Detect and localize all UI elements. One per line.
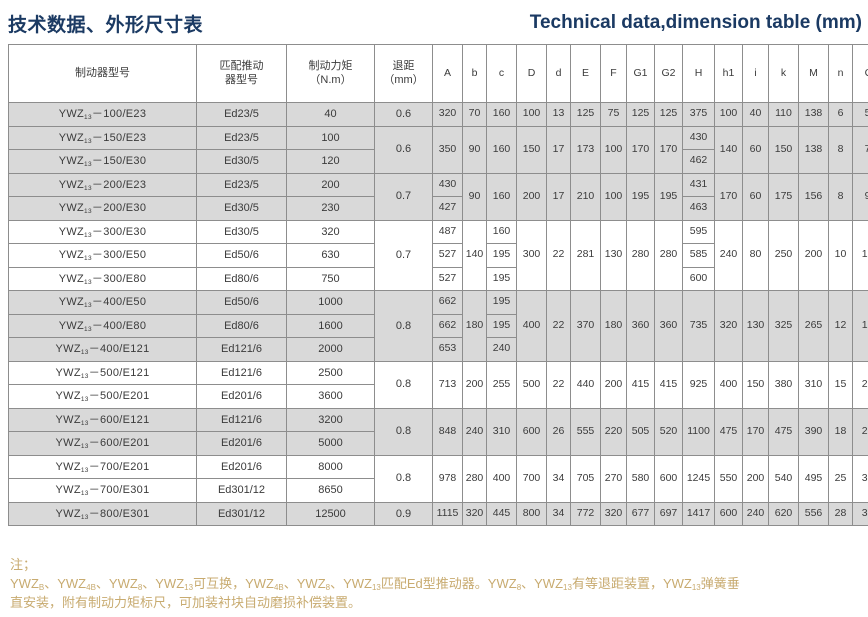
model-suffix: －200/E30 [92, 202, 146, 214]
cell-dim-k: 620 [769, 502, 799, 526]
cell-dim-k: 175 [769, 173, 799, 220]
cell-pusher-model: Ed301/12 [197, 479, 287, 503]
cell-dim-b: 240 [463, 408, 487, 455]
model-suffix: －300/E80 [92, 273, 146, 285]
model-prefix: YWZ [56, 343, 81, 355]
table-row: YWZ13－150/E23Ed23/51000.6350901601501717… [9, 126, 868, 150]
cell-dim-b: 280 [463, 455, 487, 502]
cell-dim-D: 100 [517, 103, 547, 127]
cell-dim-A: 653 [433, 338, 463, 362]
table-header: 制动器型号 匹配推动 器型号 制动力矩 （N.m） 退距 （mm） A b [9, 45, 868, 103]
cell-dim-G1: 195 [627, 173, 655, 220]
cell-retract-gap: 0.8 [375, 408, 433, 455]
cell-dim-G1: 360 [627, 291, 655, 362]
cell-dim-A: 662 [433, 314, 463, 338]
cell-braking-torque: 750 [287, 267, 375, 291]
page-root: 技术数据、外形尺寸表 Technical data,dimension tabl… [0, 0, 868, 617]
cell-retract-gap: 0.9 [375, 502, 433, 526]
cell-dim-n: 25 [829, 455, 853, 502]
cell-dim-i: 150 [743, 361, 769, 408]
note-subscript: 13 [563, 583, 572, 592]
table-row: YWZ13－700/E201Ed201/680000.8978280400700… [9, 455, 868, 479]
cell-dim-M: 265 [799, 291, 829, 362]
table-row: YWZ13－500/E121Ed121/625000.8713200255500… [9, 361, 868, 385]
model-prefix: YWZ [59, 202, 84, 214]
col-header-torque-line2: （N.m） [288, 74, 373, 88]
cell-dim-G3: 315 [853, 455, 868, 502]
cell-dim-G3: 95 [853, 173, 868, 220]
cell-pusher-model: Ed201/6 [197, 455, 287, 479]
cell-retract-gap: 0.8 [375, 455, 433, 502]
note-text: 、YWZ [330, 576, 372, 591]
cell-dim-H: 595 [683, 220, 715, 244]
cell-dim-c: 445 [487, 502, 517, 526]
cell-dim-b: 90 [463, 173, 487, 220]
cell-dim-G1: 415 [627, 361, 655, 408]
cell-dim-h1: 550 [715, 455, 743, 502]
model-suffix: －800/E301 [89, 508, 150, 520]
note-subscript: B [39, 583, 44, 592]
cell-dim-A: 350 [433, 126, 463, 173]
cell-dim-d: 34 [547, 502, 571, 526]
col-header-F: F [601, 45, 627, 103]
note-subscript: 8 [517, 583, 521, 592]
note-subscript: 4B [86, 583, 96, 592]
cell-dim-c: 240 [487, 338, 517, 362]
cell-dim-E: 173 [571, 126, 601, 173]
cell-dim-k: 540 [769, 455, 799, 502]
cell-pusher-model: Ed30/5 [197, 197, 287, 221]
cell-dim-E: 555 [571, 408, 601, 455]
cell-dim-k: 110 [769, 103, 799, 127]
model-prefix: YWZ [59, 296, 84, 308]
cell-model: YWZ13－300/E50 [9, 244, 197, 268]
model-suffix: －400/E121 [89, 343, 150, 355]
model-subscript: 13 [81, 420, 89, 427]
cell-dim-c: 310 [487, 408, 517, 455]
cell-dim-G3: 190 [853, 291, 868, 362]
cell-braking-torque: 120 [287, 150, 375, 174]
note-subscript: 13 [184, 583, 193, 592]
cell-dim-F: 220 [601, 408, 627, 455]
model-prefix: YWZ [59, 108, 84, 120]
cell-model: YWZ13－600/E121 [9, 408, 197, 432]
cell-dim-b: 90 [463, 126, 487, 173]
col-header-c: c [487, 45, 517, 103]
cell-dim-E: 210 [571, 173, 601, 220]
title-row: 技术数据、外形尺寸表 Technical data,dimension tabl… [0, 4, 868, 42]
note-text: 、YWZ [96, 576, 138, 591]
cell-dim-G2: 125 [655, 103, 683, 127]
model-prefix: YWZ [59, 155, 84, 167]
cell-dim-i: 40 [743, 103, 769, 127]
model-prefix: YWZ [56, 461, 81, 473]
cell-dim-F: 320 [601, 502, 627, 526]
cell-dim-n: 6 [829, 103, 853, 127]
cell-retract-gap: 0.6 [375, 103, 433, 127]
cell-dim-i: 240 [743, 502, 769, 526]
cell-dim-k: 475 [769, 408, 799, 455]
cell-model: YWZ13－300/E80 [9, 267, 197, 291]
cell-braking-torque: 5000 [287, 432, 375, 456]
cell-dim-b: 70 [463, 103, 487, 127]
cell-dim-M: 138 [799, 103, 829, 127]
col-header-model: 制动器型号 [9, 45, 197, 103]
cell-model: YWZ13－400/E80 [9, 314, 197, 338]
col-header-n: n [829, 45, 853, 103]
cell-dim-D: 300 [517, 220, 547, 291]
cell-dim-h1: 140 [715, 126, 743, 173]
model-subscript: 13 [84, 279, 92, 286]
cell-pusher-model: Ed201/6 [197, 432, 287, 456]
cell-dim-n: 12 [829, 291, 853, 362]
model-prefix: YWZ [56, 508, 81, 520]
model-subscript: 13 [81, 373, 89, 380]
cell-dim-A: 427 [433, 197, 463, 221]
cell-dim-d: 17 [547, 126, 571, 173]
cell-dim-c: 255 [487, 361, 517, 408]
cell-model: YWZ13－500/E201 [9, 385, 197, 409]
cell-model: YWZ13－700/E301 [9, 479, 197, 503]
cell-dim-G2: 280 [655, 220, 683, 291]
cell-dim-F: 270 [601, 455, 627, 502]
cell-dim-k: 250 [769, 220, 799, 291]
cell-retract-gap: 0.7 [375, 220, 433, 291]
col-header-A: A [433, 45, 463, 103]
note-text: 弹簧垂 [701, 576, 740, 591]
cell-dim-A: 662 [433, 291, 463, 315]
cell-dim-i: 60 [743, 173, 769, 220]
cell-retract-gap: 0.8 [375, 291, 433, 362]
cell-dim-d: 34 [547, 455, 571, 502]
model-subscript: 13 [84, 138, 92, 145]
cell-dim-G1: 580 [627, 455, 655, 502]
col-header-gap-line2: （mm） [376, 74, 431, 88]
cell-dim-d: 13 [547, 103, 571, 127]
cell-dim-n: 8 [829, 126, 853, 173]
cell-dim-G3: 357 [853, 502, 868, 526]
table-row: YWZ13－800/E301Ed301/12125000.91115320445… [9, 502, 868, 526]
col-header-G3-base: G [865, 67, 868, 79]
cell-model: YWZ13－800/E301 [9, 502, 197, 526]
cell-dim-M: 495 [799, 455, 829, 502]
cell-dim-G1: 170 [627, 126, 655, 173]
model-subscript: 13 [84, 114, 92, 121]
cell-dim-d: 22 [547, 361, 571, 408]
col-header-D: D [517, 45, 547, 103]
cell-dim-D: 800 [517, 502, 547, 526]
note-label: 注； [10, 556, 860, 575]
table-row: YWZ13－300/E30Ed30/53200.7487140160300222… [9, 220, 868, 244]
cell-dim-A: 978 [433, 455, 463, 502]
cell-dim-b: 320 [463, 502, 487, 526]
note-text: 、YWZ [142, 576, 184, 591]
cell-dim-E: 281 [571, 220, 601, 291]
cell-dim-h1: 100 [715, 103, 743, 127]
cell-pusher-model: Ed50/6 [197, 291, 287, 315]
cell-braking-torque: 40 [287, 103, 375, 127]
cell-dim-d: 22 [547, 291, 571, 362]
cell-dim-G2: 697 [655, 502, 683, 526]
cell-model: YWZ13－700/E201 [9, 455, 197, 479]
cell-dim-G2: 195 [655, 173, 683, 220]
cell-braking-torque: 3200 [287, 408, 375, 432]
cell-braking-torque: 1600 [287, 314, 375, 338]
cell-dim-G3: 70 [853, 126, 868, 173]
cell-braking-torque: 230 [287, 197, 375, 221]
cell-dim-A: 527 [433, 267, 463, 291]
cell-dim-E: 772 [571, 502, 601, 526]
col-header-pusher: 匹配推动 器型号 [197, 45, 287, 103]
cell-dim-E: 370 [571, 291, 601, 362]
cell-dim-D: 400 [517, 291, 547, 362]
cell-dim-n: 28 [829, 502, 853, 526]
col-header-gap: 退距 （mm） [375, 45, 433, 103]
cell-dim-A: 713 [433, 361, 463, 408]
cell-dim-F: 130 [601, 220, 627, 291]
model-suffix: －500/E201 [89, 390, 150, 402]
model-subscript: 13 [81, 396, 89, 403]
cell-dim-D: 150 [517, 126, 547, 173]
model-subscript: 13 [84, 232, 92, 239]
model-prefix: YWZ [59, 179, 84, 191]
cell-braking-torque: 2500 [287, 361, 375, 385]
note-text: 有等退距装置，YWZ [572, 576, 692, 591]
cell-braking-torque: 1000 [287, 291, 375, 315]
cell-dim-h1: 240 [715, 220, 743, 291]
cell-braking-torque: 8650 [287, 479, 375, 503]
col-header-H: H [683, 45, 715, 103]
model-suffix: －150/E23 [92, 132, 146, 144]
cell-dim-H: 735 [683, 291, 715, 362]
cell-dim-D: 700 [517, 455, 547, 502]
cell-dim-G1: 280 [627, 220, 655, 291]
cell-dim-i: 60 [743, 126, 769, 173]
note-text: YWZ [10, 576, 39, 591]
cell-model: YWZ13－600/E201 [9, 432, 197, 456]
model-suffix: －400/E50 [92, 296, 146, 308]
cell-dim-h1: 170 [715, 173, 743, 220]
technical-data-table-wrapper: 制动器型号 匹配推动 器型号 制动力矩 （N.m） 退距 （mm） A b [8, 44, 860, 526]
note-text: 、YWZ [44, 576, 86, 591]
model-suffix: －100/E23 [92, 108, 146, 120]
cell-dim-i: 170 [743, 408, 769, 455]
cell-retract-gap: 0.8 [375, 361, 433, 408]
col-header-k: k [769, 45, 799, 103]
cell-dim-A: 430 [433, 173, 463, 197]
model-prefix: YWZ [59, 226, 84, 238]
note-subscript: 8 [138, 583, 142, 592]
note-subscript: 8 [326, 583, 330, 592]
model-subscript: 13 [84, 208, 92, 215]
cell-dim-h1: 475 [715, 408, 743, 455]
table-body: YWZ13－100/E23Ed23/5400.63207016010013125… [9, 103, 868, 526]
cell-braking-torque: 2000 [287, 338, 375, 362]
cell-dim-n: 8 [829, 173, 853, 220]
cell-dim-b: 140 [463, 220, 487, 291]
cell-dim-F: 75 [601, 103, 627, 127]
note-text: 、YWZ [521, 576, 563, 591]
cell-dim-G3: 50 [853, 103, 868, 127]
cell-model: YWZ13－400/E121 [9, 338, 197, 362]
cell-model: YWZ13－300/E30 [9, 220, 197, 244]
model-suffix: －600/E201 [89, 437, 150, 449]
col-header-gap-line1: 退距 [376, 60, 431, 74]
table-row: YWZ13－600/E121Ed121/632000.8848240310600… [9, 408, 868, 432]
col-header-torque: 制动力矩 （N.m） [287, 45, 375, 103]
col-header-G3: G3 [853, 45, 868, 103]
cell-dim-h1: 400 [715, 361, 743, 408]
cell-retract-gap: 0.6 [375, 126, 433, 173]
cell-dim-G2: 600 [655, 455, 683, 502]
cell-dim-c: 195 [487, 291, 517, 315]
cell-pusher-model: Ed80/6 [197, 267, 287, 291]
cell-pusher-model: Ed121/6 [197, 361, 287, 385]
cell-dim-M: 156 [799, 173, 829, 220]
header-row: 制动器型号 匹配推动 器型号 制动力矩 （N.m） 退距 （mm） A b [9, 45, 868, 103]
cell-dim-d: 26 [547, 408, 571, 455]
col-header-pusher-line2: 器型号 [198, 74, 285, 88]
cell-dim-k: 325 [769, 291, 799, 362]
model-prefix: YWZ [59, 132, 84, 144]
model-subscript: 13 [81, 443, 89, 450]
model-suffix: －150/E30 [92, 155, 146, 167]
cell-braking-torque: 320 [287, 220, 375, 244]
cell-pusher-model: Ed23/5 [197, 126, 287, 150]
cell-dim-d: 17 [547, 173, 571, 220]
note-text: 可互换，YWZ [193, 576, 274, 591]
cell-pusher-model: Ed30/5 [197, 220, 287, 244]
cell-dim-H: 375 [683, 103, 715, 127]
cell-model: YWZ13－200/E23 [9, 173, 197, 197]
cell-dim-E: 705 [571, 455, 601, 502]
cell-model: YWZ13－150/E23 [9, 126, 197, 150]
cell-dim-M: 310 [799, 361, 829, 408]
model-suffix: －700/E201 [89, 461, 150, 473]
model-subscript: 13 [84, 161, 92, 168]
cell-dim-D: 600 [517, 408, 547, 455]
cell-dim-G3: 225 [853, 361, 868, 408]
model-suffix: －200/E23 [92, 179, 146, 191]
cell-dim-G2: 520 [655, 408, 683, 455]
note-subscript: 13 [372, 583, 381, 592]
note-text: 匹配Ed型推动器。YWZ [381, 576, 517, 591]
model-prefix: YWZ [56, 484, 81, 496]
model-prefix: YWZ [59, 249, 84, 261]
page-title-en: Technical data,dimension table (mm) [530, 12, 862, 34]
model-prefix: YWZ [59, 273, 84, 285]
col-header-torque-line1: 制动力矩 [288, 60, 373, 74]
cell-dim-n: 10 [829, 220, 853, 291]
cell-model: YWZ13－100/E23 [9, 103, 197, 127]
cell-braking-torque: 12500 [287, 502, 375, 526]
model-subscript: 13 [81, 514, 89, 521]
cell-dim-G2: 415 [655, 361, 683, 408]
cell-dim-A: 320 [433, 103, 463, 127]
cell-dim-H: 925 [683, 361, 715, 408]
cell-pusher-model: Ed30/5 [197, 150, 287, 174]
cell-model: YWZ13－150/E30 [9, 150, 197, 174]
model-prefix: YWZ [59, 320, 84, 332]
cell-braking-torque: 200 [287, 173, 375, 197]
cell-dim-G3: 125 [853, 220, 868, 291]
cell-braking-torque: 3600 [287, 385, 375, 409]
col-header-G2: G2 [655, 45, 683, 103]
cell-dim-c: 160 [487, 126, 517, 173]
cell-dim-F: 180 [601, 291, 627, 362]
cell-dim-G2: 170 [655, 126, 683, 173]
cell-dim-k: 380 [769, 361, 799, 408]
model-subscript: 13 [84, 185, 92, 192]
model-suffix: －500/E121 [89, 367, 150, 379]
cell-dim-i: 80 [743, 220, 769, 291]
cell-dim-H: 430 [683, 126, 715, 150]
cell-dim-G2: 360 [655, 291, 683, 362]
cell-dim-b: 180 [463, 291, 487, 362]
note-line-2: 直安装，附有制动力矩标尺，可加装衬块自动磨损补偿装置。 [10, 594, 860, 613]
technical-data-table: 制动器型号 匹配推动 器型号 制动力矩 （N.m） 退距 （mm） A b [8, 44, 868, 526]
col-header-b: b [463, 45, 487, 103]
cell-dim-A: 487 [433, 220, 463, 244]
page-title-cn: 技术数据、外形尺寸表 [8, 10, 203, 37]
cell-dim-F: 200 [601, 361, 627, 408]
cell-pusher-model: Ed121/6 [197, 338, 287, 362]
table-row: YWZ13－400/E50Ed50/610000.866218019540022… [9, 291, 868, 315]
cell-dim-d: 22 [547, 220, 571, 291]
cell-dim-c: 195 [487, 267, 517, 291]
col-header-d: d [547, 45, 571, 103]
cell-dim-h1: 320 [715, 291, 743, 362]
cell-dim-n: 15 [829, 361, 853, 408]
cell-dim-H: 462 [683, 150, 715, 174]
cell-pusher-model: Ed80/6 [197, 314, 287, 338]
cell-dim-G1: 505 [627, 408, 655, 455]
cell-dim-M: 556 [799, 502, 829, 526]
cell-dim-M: 138 [799, 126, 829, 173]
cell-dim-F: 100 [601, 173, 627, 220]
cell-retract-gap: 0.7 [375, 173, 433, 220]
cell-dim-n: 18 [829, 408, 853, 455]
cell-model: YWZ13－500/E121 [9, 361, 197, 385]
cell-pusher-model: Ed23/5 [197, 103, 287, 127]
model-suffix: －300/E50 [92, 249, 146, 261]
cell-dim-A: 1115 [433, 502, 463, 526]
cell-dim-k: 150 [769, 126, 799, 173]
cell-dim-A: 848 [433, 408, 463, 455]
cell-pusher-model: Ed301/12 [197, 502, 287, 526]
col-header-h1: h1 [715, 45, 743, 103]
cell-braking-torque: 8000 [287, 455, 375, 479]
model-subscript: 13 [81, 349, 89, 356]
cell-dim-H: 431 [683, 173, 715, 197]
cell-dim-c: 160 [487, 173, 517, 220]
cell-braking-torque: 630 [287, 244, 375, 268]
cell-dim-G1: 125 [627, 103, 655, 127]
col-header-G1: G1 [627, 45, 655, 103]
model-suffix: －300/E30 [92, 226, 146, 238]
model-subscript: 13 [84, 302, 92, 309]
cell-dim-i: 130 [743, 291, 769, 362]
cell-dim-M: 200 [799, 220, 829, 291]
table-row: YWZ13－100/E23Ed23/5400.63207016010013125… [9, 103, 868, 127]
cell-dim-D: 200 [517, 173, 547, 220]
note-block: 注； YWZB、YWZ4B、YWZ8、YWZ13可互换，YWZ4B、YWZ8、Y… [10, 556, 860, 613]
model-prefix: YWZ [56, 414, 81, 426]
cell-dim-H: 463 [683, 197, 715, 221]
note-subscript: 4B [274, 583, 284, 592]
cell-dim-M: 390 [799, 408, 829, 455]
cell-model: YWZ13－200/E30 [9, 197, 197, 221]
